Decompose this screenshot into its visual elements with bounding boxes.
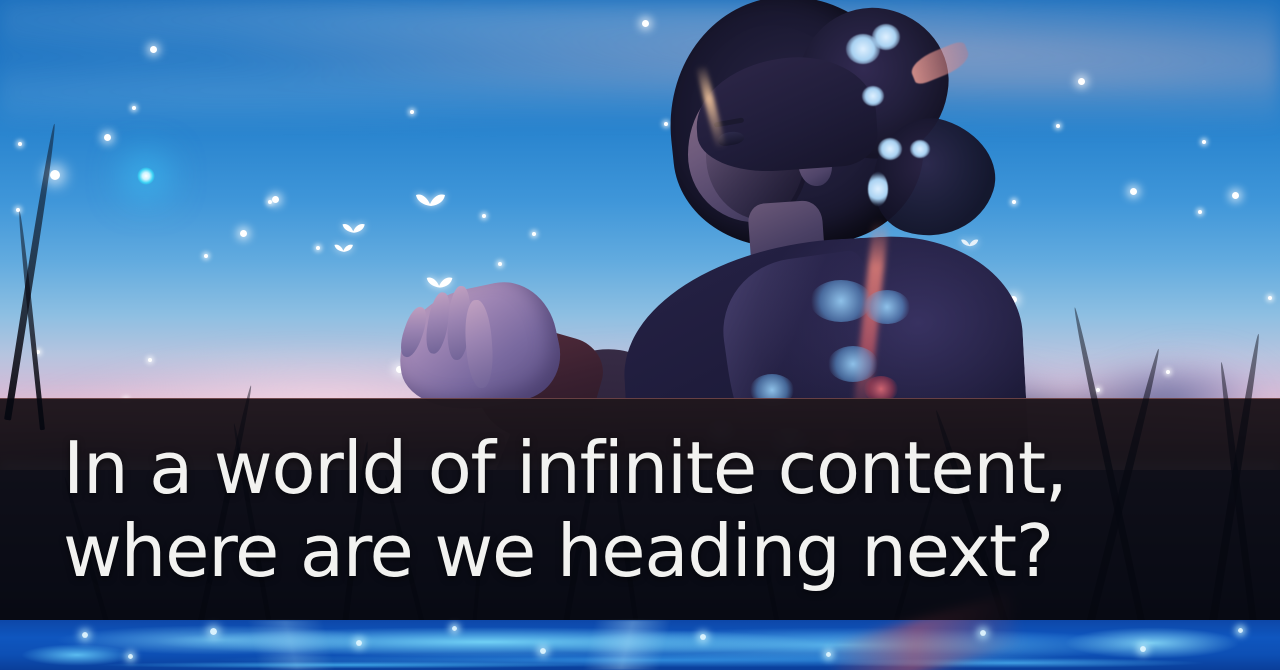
butterfly-icon [341,222,367,239]
sparkle-icon [1232,192,1239,199]
glow-sparkle [540,648,546,654]
glow-streaks [0,620,1280,670]
caption-line-1: In a world of infinite content, [63,427,1280,509]
hair-flower-icon [878,138,902,160]
sparkle-icon [150,46,157,53]
sparkle-icon [532,232,536,236]
glow-sparkle [1238,628,1243,633]
glow-sparkle [210,628,217,635]
sparkle-icon [1096,388,1100,392]
sparkle-icon [148,358,152,362]
butterfly-icon [333,243,355,257]
sparkle-icon [104,134,111,141]
glow-sparkle [452,626,457,631]
sparkle-icon [1056,124,1060,128]
glow-orb-icon [137,167,155,185]
glow-sparkle [128,654,133,659]
glow-sparkle [700,634,706,640]
caption-line-2: where are we heading next? [63,510,1280,592]
hair-flower-icon [910,140,930,158]
sparkle-icon [1198,210,1202,214]
sparkle-icon [316,246,320,250]
butterfly-icon [414,192,448,214]
sparkle-icon [410,110,414,114]
hair-flower-icon [872,24,900,50]
hair-flower-icon [868,172,888,206]
sparkle-icon [204,254,208,258]
sparkle-icon [498,262,502,266]
sparkle-icon [1166,370,1170,374]
hair-flower-icon [862,86,884,106]
kimono-flower-icon [864,290,910,324]
sparkle-icon [1202,140,1206,144]
glow-sparkle [826,652,831,657]
kimono-flower-icon [828,346,878,382]
glow-sparkle [1140,646,1146,652]
sparkle-icon [1078,78,1085,85]
sparkle-icon [240,230,247,237]
kimono-flower-icon [810,280,872,322]
caption-block: In a world of infinite content, where ar… [0,399,1280,620]
sparkle-icon [1130,188,1137,195]
glow-sparkle [82,632,88,638]
sparkle-icon [18,142,22,146]
sparkle-icon [482,214,486,218]
glow-sparkle [980,630,986,636]
sparkle-icon [1268,296,1272,300]
glow-sparkle [356,640,362,646]
sparkle-icon [272,196,279,203]
sparkle-icon [132,106,136,110]
sparkle-icon [50,170,60,180]
illustration-stage: In a world of infinite content, where ar… [0,0,1280,670]
